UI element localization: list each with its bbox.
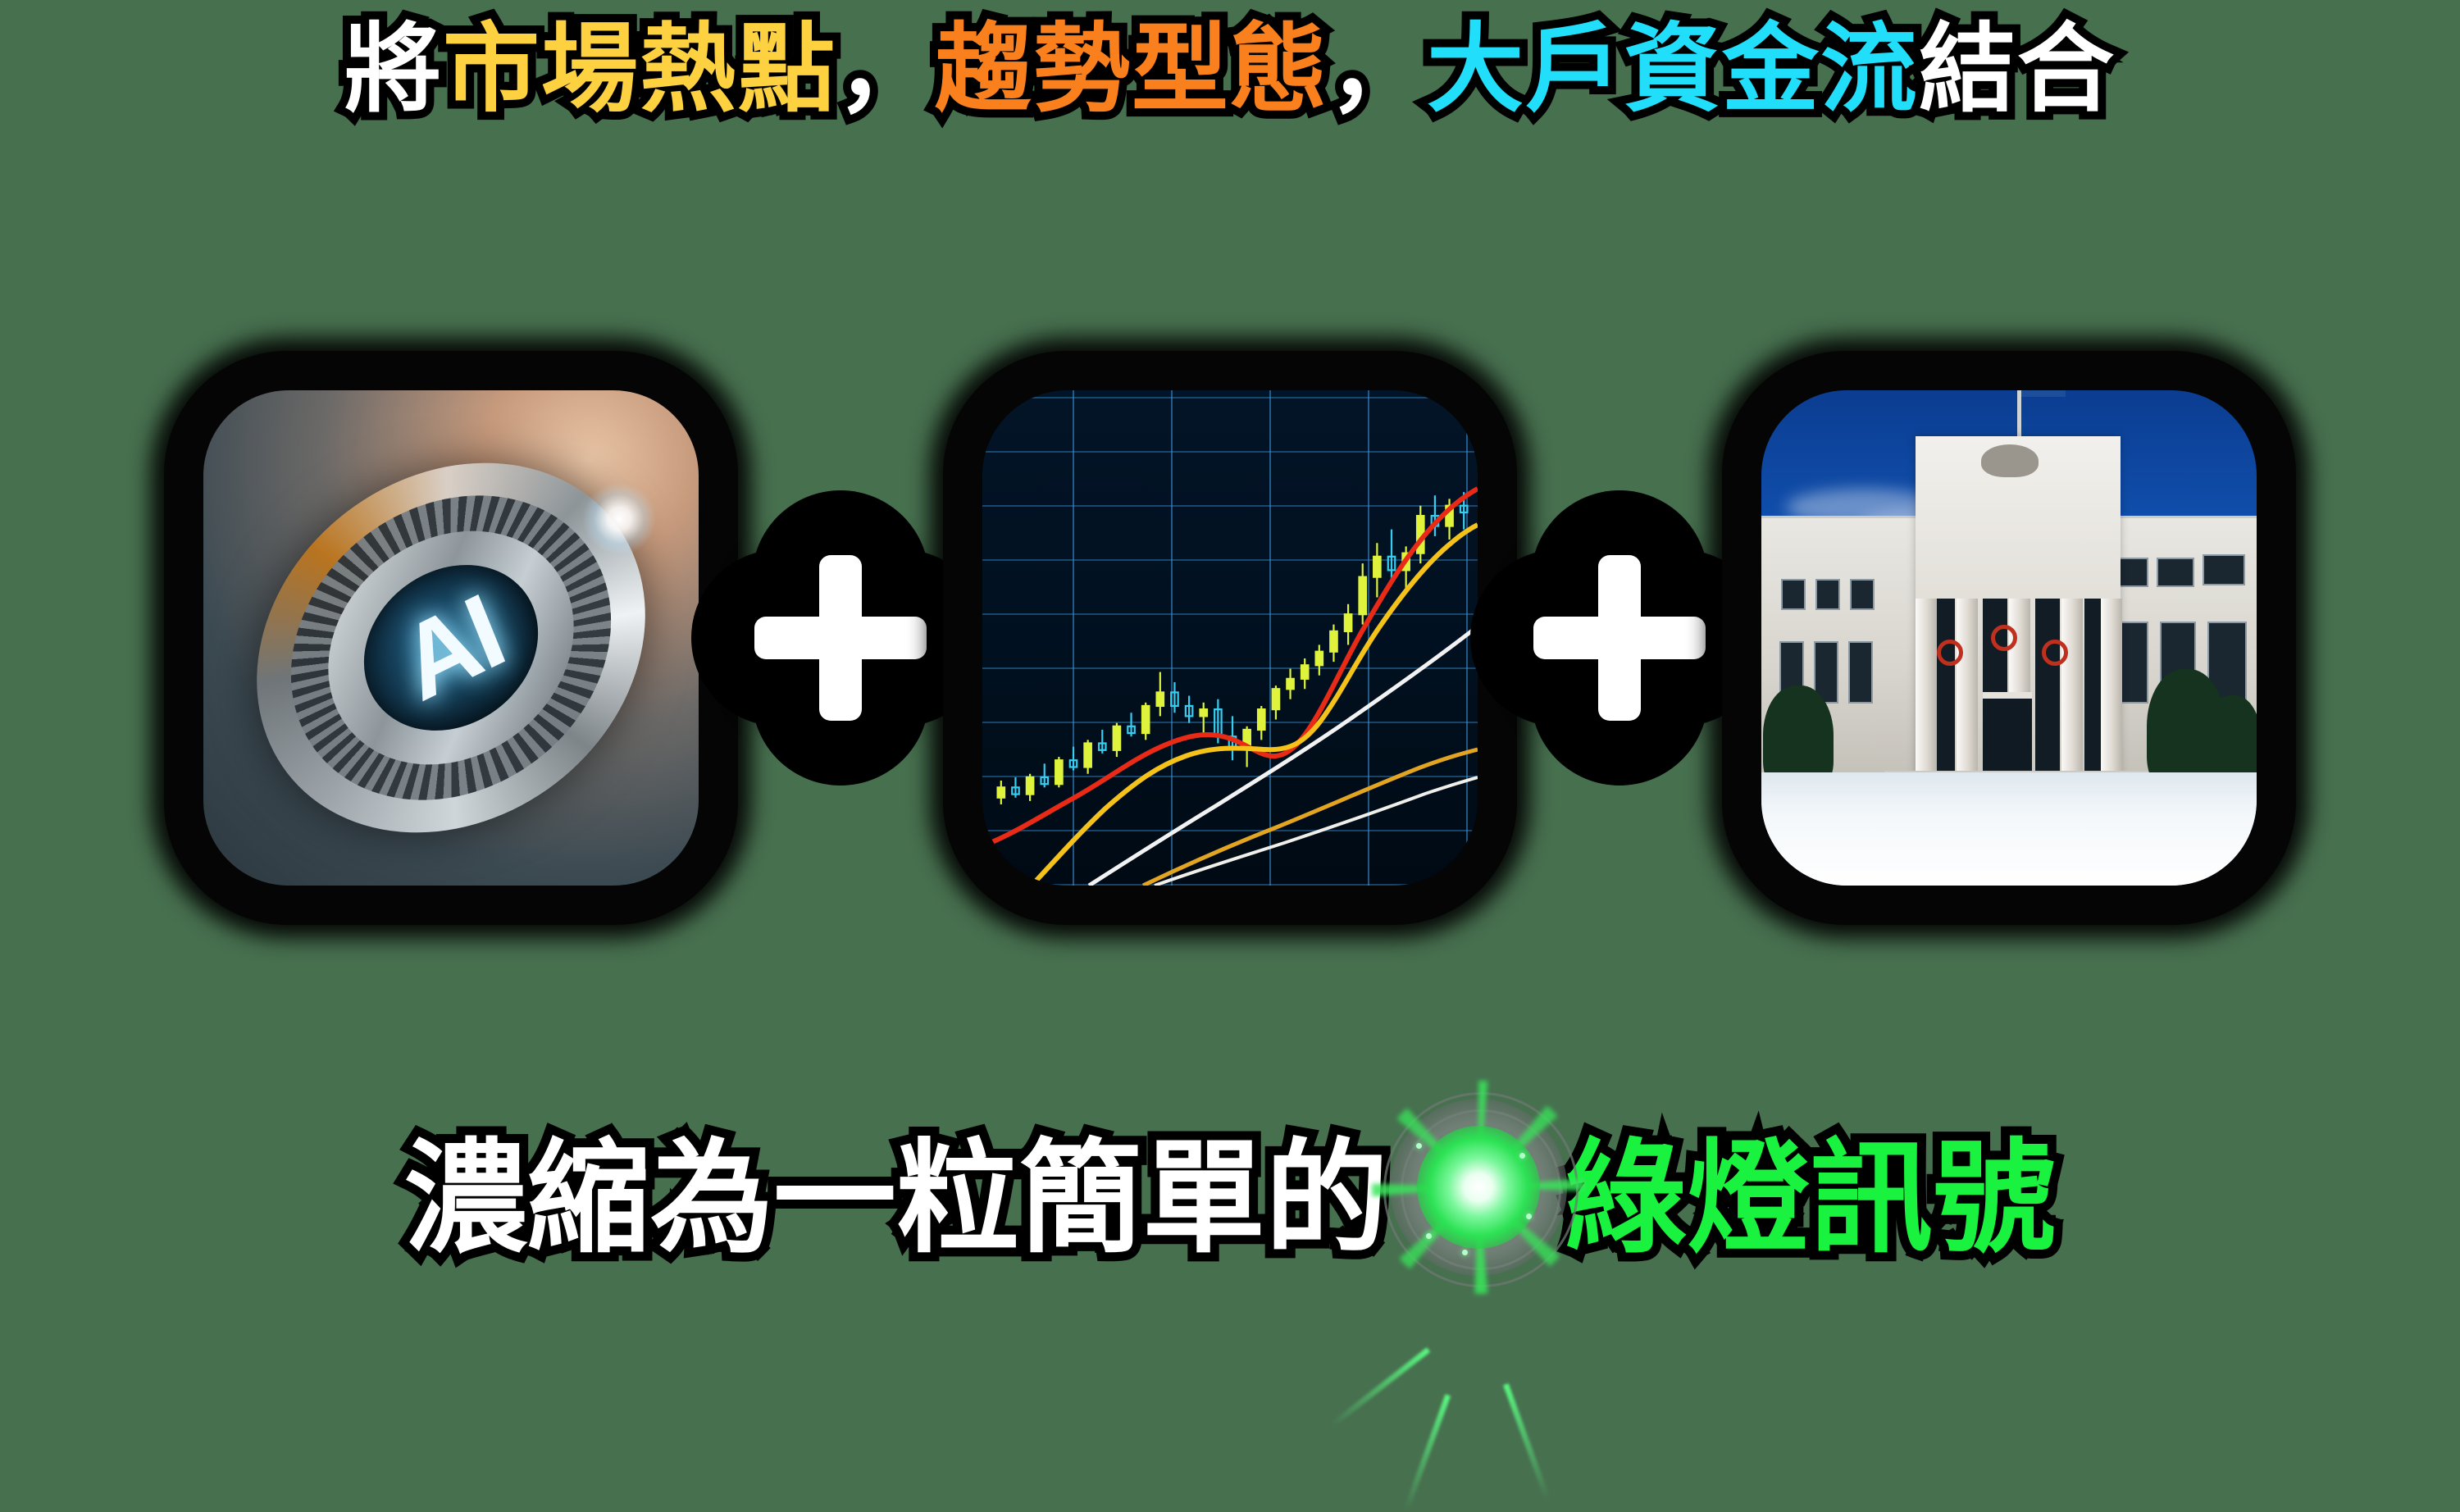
ma-fast-line: [982, 489, 1478, 846]
ai-label: AI: [385, 571, 517, 725]
headline-seg-jiang: 將: [344, 13, 443, 127]
candlestick-chart-card[interactable]: [943, 351, 1517, 925]
plus-operator-1: [738, 535, 943, 740]
headline-comma-1: ，: [836, 13, 935, 127]
bottomline-seg-condense: 濃縮為一粒簡單的: [404, 1099, 1388, 1277]
ai-chip-image: AI: [203, 390, 699, 886]
headline-seg-combine: 結合: [1919, 13, 2116, 127]
chart-plot: [982, 390, 1478, 886]
flagpole: [2017, 390, 2021, 436]
image-card-row: AI: [0, 343, 2460, 933]
bottomline-seg-green-light-signal: 綠燈訊號: [1564, 1099, 2056, 1277]
headline-seg-big-money-flow: 大戶資金流: [1427, 13, 1919, 127]
headline: 將市場熱點，趨勢型態，大戶資金流結合: [0, 13, 2460, 127]
snow-ground: [1761, 772, 2257, 886]
plus-operator-2: [1517, 535, 1722, 740]
portico: [1916, 436, 2121, 789]
headline-seg-market-hotspot: 市場熱點: [443, 13, 836, 127]
headline-seg-trend-pattern: 趨勢型態: [935, 13, 1328, 127]
chip-lens-flare-icon: [582, 482, 656, 556]
candlestick-chart-image: [982, 390, 1478, 886]
plus-icon: [1533, 552, 1706, 724]
plus-icon: [754, 552, 927, 724]
poster-canvas: 將市場熱點，趨勢型態，大戶資金流結合 AI: [0, 0, 2460, 1384]
headline-comma-2: ，: [1328, 13, 1427, 127]
ma-extra-line: [1155, 777, 1478, 886]
green-light-burst: [1380, 1089, 1577, 1286]
eagle-relief-icon: [1981, 444, 2039, 477]
bottomline: 濃縮為一粒簡單的 綠燈訊號: [0, 1089, 2460, 1286]
federal-reserve-card[interactable]: [1722, 351, 2296, 925]
ma-mid-line: [1032, 525, 1478, 886]
ai-chip-card[interactable]: AI: [164, 351, 738, 925]
federal-reserve-image: [1761, 390, 2257, 886]
secondary-flag-icon: [2021, 390, 2066, 397]
